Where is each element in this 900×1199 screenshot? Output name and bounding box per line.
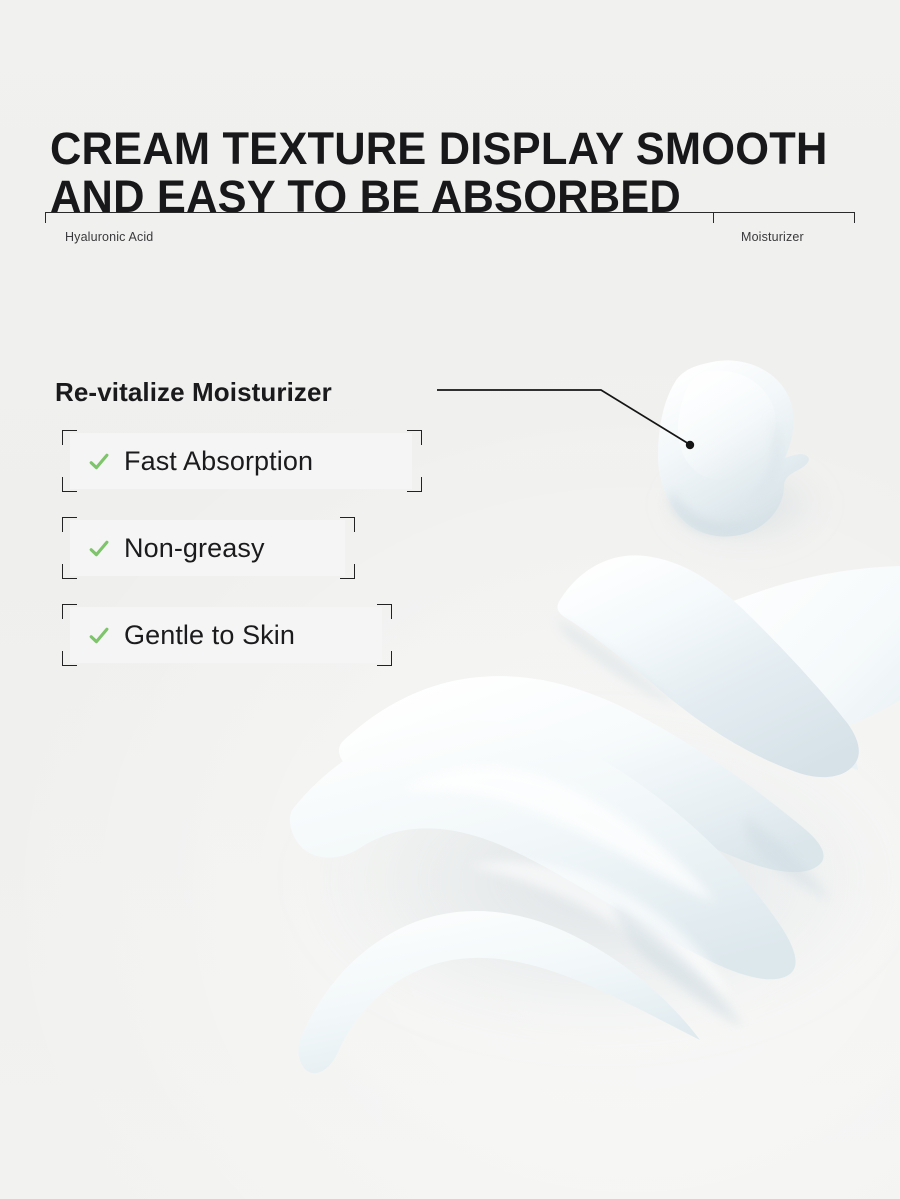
scale-tick-middle — [713, 212, 714, 223]
scale-label-right: Moisturizer — [741, 230, 804, 244]
scale-label-left: Hyaluronic Acid — [65, 230, 153, 244]
feature-label: Non-greasy — [124, 533, 265, 564]
feature-label: Gentle to Skin — [124, 620, 295, 651]
check-icon — [88, 538, 110, 560]
page-title: CREAM TEXTURE DISPLAY SMOOTH AND EASY TO… — [50, 125, 841, 221]
check-icon — [88, 625, 110, 647]
corner-top-right — [340, 517, 355, 532]
infographic-page: CREAM TEXTURE DISPLAY SMOOTH AND EASY TO… — [0, 0, 900, 1199]
corner-top-left — [62, 430, 77, 445]
feature-list: Fast Absorption Non-greasy — [62, 430, 422, 666]
corner-bottom-left — [62, 651, 77, 666]
feature-panel: Non-greasy — [70, 520, 345, 576]
feature-item-fast-absorption: Fast Absorption — [62, 430, 422, 492]
scale-tick-right — [854, 212, 855, 223]
headline-line-1: CREAM TEXTURE DISPLAY SMOOTH — [50, 123, 828, 174]
scale-tick-left — [45, 212, 46, 223]
leader-line — [437, 390, 694, 449]
scale-bar: Hyaluronic Acid Moisturizer — [45, 212, 855, 250]
section-heading: Re-vitalize Moisturizer — [55, 377, 332, 408]
corner-bottom-right — [377, 651, 392, 666]
feature-panel: Fast Absorption — [70, 433, 412, 489]
feature-panel: Gentle to Skin — [70, 607, 382, 663]
corner-top-right — [377, 604, 392, 619]
scale-bar-line — [45, 212, 855, 213]
cream-dollop-shape — [658, 360, 809, 536]
corner-bottom-right — [340, 564, 355, 579]
corner-top-left — [62, 604, 77, 619]
corner-bottom-left — [62, 477, 77, 492]
feature-item-gentle-to-skin: Gentle to Skin — [62, 604, 422, 666]
check-icon — [88, 451, 110, 473]
corner-top-right — [407, 430, 422, 445]
feature-item-non-greasy: Non-greasy — [62, 517, 422, 579]
corner-bottom-right — [407, 477, 422, 492]
feature-label: Fast Absorption — [124, 446, 313, 477]
corner-top-left — [62, 517, 77, 532]
corner-bottom-left — [62, 564, 77, 579]
